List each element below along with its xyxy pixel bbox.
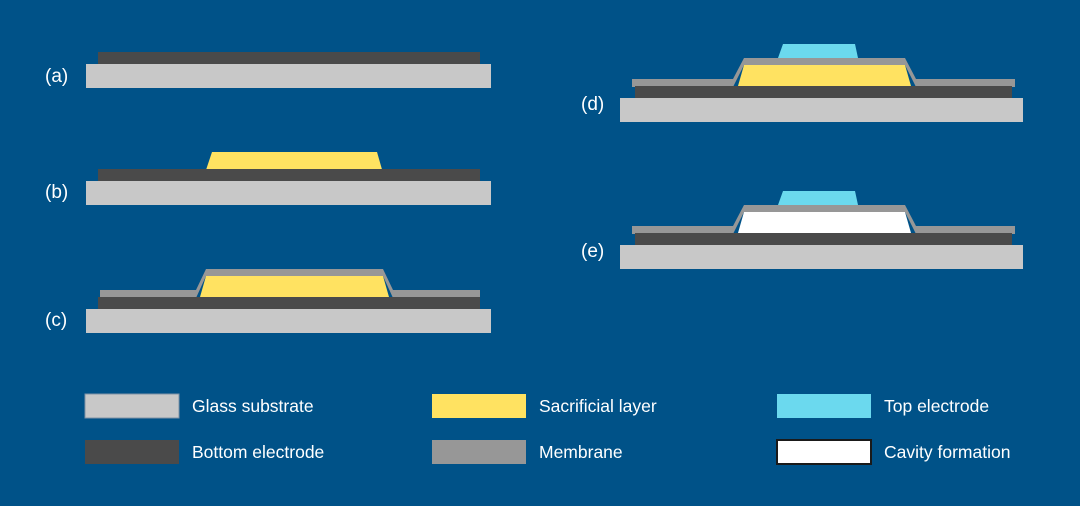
panel-e-glass-substrate xyxy=(620,245,1023,269)
panel-c-glass-substrate xyxy=(86,309,491,333)
legend-item-top-electrode: Top electrode xyxy=(777,394,989,418)
panel-d-bottom-electrode xyxy=(635,86,1012,98)
panel-a: (a) xyxy=(45,52,491,88)
panel-d-label: (d) xyxy=(581,94,604,115)
panel-b-bottom-electrode xyxy=(98,169,480,181)
panel-e-label: (e) xyxy=(581,241,604,262)
panel-b-label: (b) xyxy=(45,182,68,203)
panel-a-bottom-electrode xyxy=(98,52,480,64)
legend-swatch-top-electrode xyxy=(777,394,871,418)
panel-e-top-electrode xyxy=(778,191,858,205)
panel-b-glass-substrate xyxy=(86,181,491,205)
legend-item-cavity-formation: Cavity formation xyxy=(777,440,1010,464)
panel-c-bottom-electrode xyxy=(98,297,480,309)
legend-item-sacrificial-layer: Sacrificial layer xyxy=(432,394,657,418)
legend-label-top-electrode: Top electrode xyxy=(884,396,989,416)
panel-d-sacrificial-layer xyxy=(738,65,911,86)
panel-e-bottom-electrode xyxy=(635,233,1012,245)
panel-a-glass-substrate xyxy=(86,64,491,88)
legend-swatch-cavity-formation xyxy=(777,440,871,464)
legend-label-cavity-formation: Cavity formation xyxy=(884,442,1010,462)
legend-swatch-bottom-electrode xyxy=(85,440,179,464)
panel-a-label: (a) xyxy=(45,66,68,87)
figure-canvas: (a) (b) (c) (d) xyxy=(0,0,1080,506)
legend-label-sacrificial-layer: Sacrificial layer xyxy=(539,396,657,416)
panel-d-glass-substrate xyxy=(620,98,1023,122)
panel-e-cavity-formation xyxy=(738,212,911,233)
legend-item-bottom-electrode: Bottom electrode xyxy=(85,440,324,464)
legend-swatch-sacrificial-layer xyxy=(432,394,526,418)
legend-swatch-glass-substrate xyxy=(85,394,179,418)
legend-item-glass-substrate: Glass substrate xyxy=(85,394,314,418)
legend-label-bottom-electrode: Bottom electrode xyxy=(192,442,324,462)
panel-d-top-electrode xyxy=(778,44,858,58)
panel-c-label: (c) xyxy=(45,310,67,331)
legend-swatch-membrane xyxy=(432,440,526,464)
legend-label-glass-substrate: Glass substrate xyxy=(192,396,314,416)
process-flow-diagram: (a) (b) (c) (d) xyxy=(0,0,1080,506)
panel-c-sacrificial-layer xyxy=(200,276,389,297)
legend-label-membrane: Membrane xyxy=(539,442,623,462)
